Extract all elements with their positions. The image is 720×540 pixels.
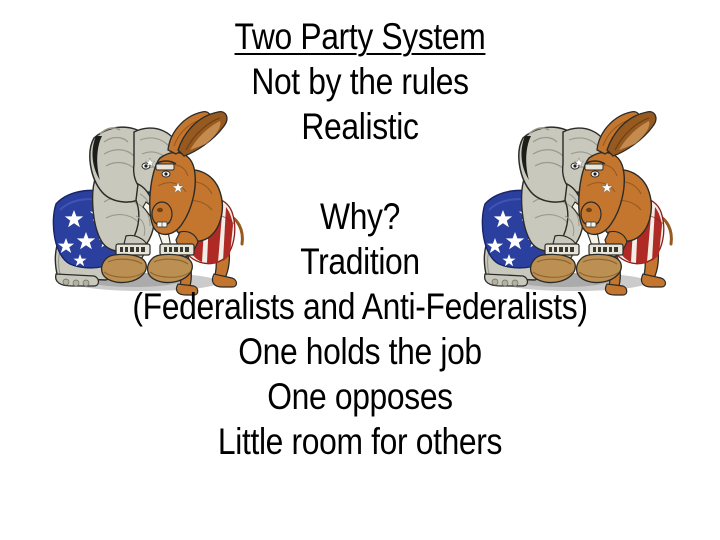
slide-line-7: One holds the job (50, 329, 669, 374)
slide-line-6: (Federalists and Anti-Federalists) (50, 284, 669, 329)
slide-line-8: One opposes (50, 374, 669, 419)
slide-line-9: Little room for others (50, 419, 669, 464)
slide-text-block: Two Party System Not by the rules Realis… (0, 14, 720, 464)
slide-line-spacer (50, 149, 669, 194)
slide-line-4: Why? (50, 194, 669, 239)
slide-line-2: Realistic (50, 104, 669, 149)
slide-line-1: Not by the rules (50, 59, 669, 104)
slide-canvas: Two Party System Not by the rules Realis… (0, 0, 720, 540)
slide-line-5: Tradition (50, 239, 669, 284)
slide-title: Two Party System (50, 14, 669, 59)
